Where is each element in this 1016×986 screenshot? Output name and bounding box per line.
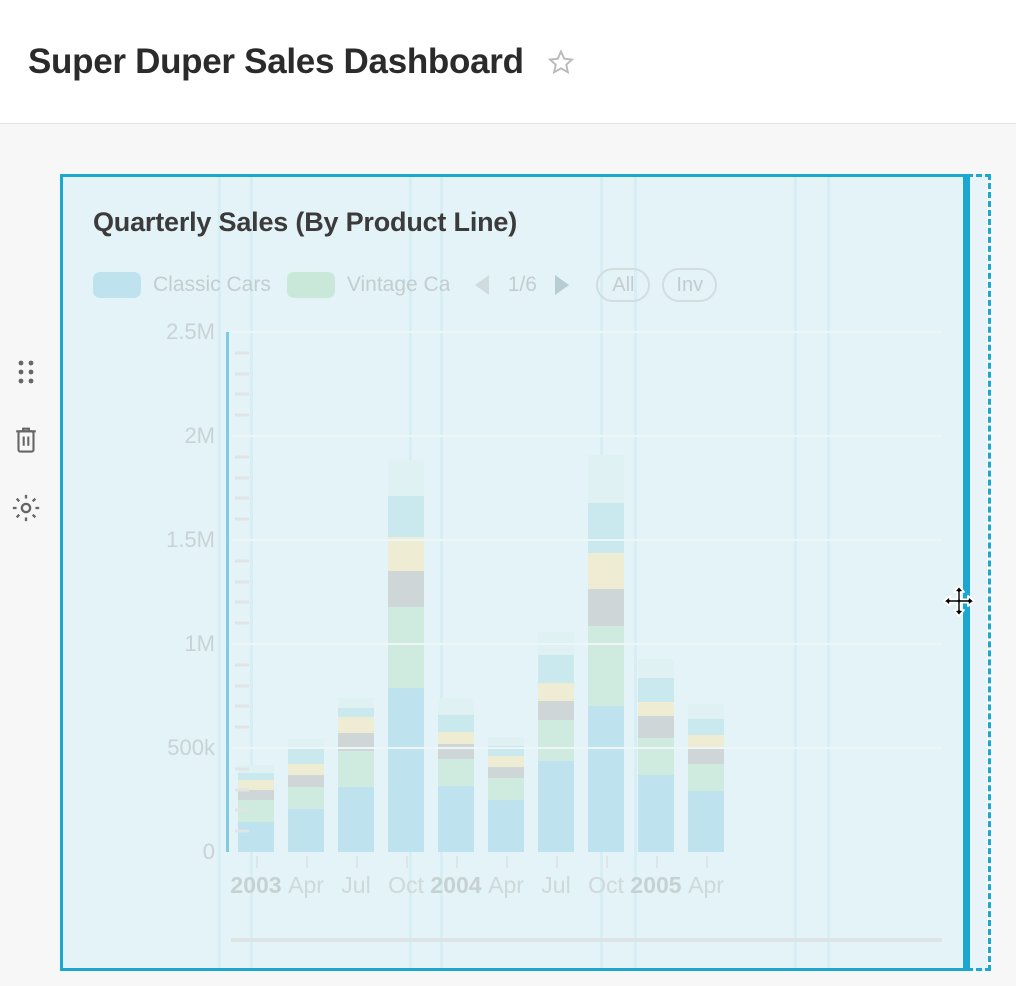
y-axis: 0500k1M1.5M2M2.5M <box>63 332 223 852</box>
gridline <box>231 435 942 437</box>
chart-bar-segment <box>288 787 324 810</box>
x-axis-tick-label: Apr <box>688 872 724 899</box>
drag-handle-icon[interactable] <box>9 355 43 389</box>
x-axis-tick <box>606 856 608 868</box>
x-axis-tick <box>656 856 658 868</box>
legend-item-vintage-cars[interactable]: Vintage Ca <box>287 272 451 298</box>
y-axis-minor-tick <box>235 580 249 583</box>
chart-bar-segment <box>538 720 574 761</box>
chart-bar-segment <box>238 822 274 852</box>
chart-bar-segment <box>588 589 624 626</box>
chart-bar-segment <box>588 706 624 852</box>
y-axis-tick-label: 2.5M <box>166 319 215 345</box>
y-axis-tick-label: 500k <box>167 735 215 761</box>
app-header: Super Duper Sales Dashboard <box>0 0 1016 124</box>
y-axis-minor-tick <box>235 705 249 708</box>
chart-bar-segment <box>488 800 524 852</box>
y-axis-minor-tick <box>235 476 249 479</box>
chart-bar-segment <box>388 571 424 606</box>
chart-bar-segment <box>338 698 374 707</box>
chart-bar-segment <box>638 738 674 775</box>
x-axis-tick-label: Oct <box>388 872 424 899</box>
y-axis-minor-tick <box>235 767 249 770</box>
chart-bar-segment <box>288 739 324 747</box>
chart-bar-segment <box>538 683 574 702</box>
x-axis-tick-label: Apr <box>288 872 324 899</box>
chart-bar[interactable] <box>638 659 674 852</box>
chart-bar-segment <box>438 759 474 786</box>
chart-bar-segment <box>688 791 724 852</box>
gridline <box>231 747 942 749</box>
dashboard-page: Super Duper Sales Dashboard <box>0 0 1016 986</box>
star-outline-icon[interactable] <box>544 45 578 79</box>
x-axis-tick <box>356 856 358 868</box>
chart-bar[interactable] <box>488 737 524 852</box>
y-axis-tick-label: 2M <box>184 423 215 449</box>
chart-bar-segment <box>688 719 724 735</box>
trash-icon[interactable] <box>9 423 43 457</box>
x-axis: 2003AprJulOct2004AprJulOct2005Apr <box>231 856 942 916</box>
legend-invert-button[interactable]: Inv <box>662 268 717 302</box>
chart-bar-segment <box>388 537 424 571</box>
legend-swatch-vintage-cars <box>287 272 335 298</box>
y-axis-minor-tick <box>235 830 249 833</box>
chart-bar-segment <box>338 717 374 734</box>
chart-bar-segment <box>288 764 324 775</box>
chart-bar-segment <box>688 704 724 719</box>
chart-bar-segment <box>688 764 724 791</box>
gridline <box>231 539 942 541</box>
chart-plot-area: 0500k1M1.5M2M2.5M 2003AprJulOct2004AprJu… <box>63 332 942 942</box>
chart-bar-segment <box>688 735 724 747</box>
chart-legend: Classic Cars Vintage Ca 1/6 All <box>93 268 969 302</box>
chart-bar-segment <box>438 732 474 743</box>
y-axis-minor-tick <box>235 414 249 417</box>
chart-bar-segment <box>338 787 374 853</box>
legend-action-buttons: All Inv <box>596 268 717 302</box>
chart-bar[interactable] <box>338 698 374 852</box>
legend-item-label: Vintage Ca <box>347 273 451 297</box>
chart-bar-segment <box>238 773 274 780</box>
chart-bar[interactable] <box>388 460 424 852</box>
x-axis-tick-label: Jul <box>341 872 370 899</box>
triangle-left-icon[interactable] <box>470 271 494 299</box>
gridline <box>231 643 942 645</box>
y-axis-line <box>226 332 229 852</box>
chart-bar-segment <box>338 751 374 786</box>
widget-resize-handle-right[interactable] <box>963 174 970 971</box>
chart-bar-segment <box>588 553 624 589</box>
x-axis-tick <box>706 856 708 868</box>
y-axis-minor-tick <box>235 518 249 521</box>
x-axis-tick <box>506 856 508 868</box>
chart-bar-segment <box>638 678 674 702</box>
x-axis-tick-label: Oct <box>588 872 624 899</box>
x-axis-tick-label: Apr <box>488 872 524 899</box>
x-axis-tick-label: 2005 <box>630 872 681 899</box>
chart-bar-segment <box>388 460 424 496</box>
x-axis-tick <box>256 856 258 868</box>
y-axis-minor-tick <box>235 684 249 687</box>
page-title: Super Duper Sales Dashboard <box>28 42 524 82</box>
y-axis-tick-label: 1M <box>184 631 215 657</box>
chart-bar-segment <box>638 716 674 738</box>
chart-bar-segment <box>588 626 624 706</box>
x-axis-baseline <box>231 938 942 942</box>
legend-swatch-classic-cars <box>93 272 141 298</box>
chart-title: Quarterly Sales (By Product Line) <box>93 207 969 238</box>
chart-bar-segment <box>388 496 424 537</box>
chart-bar-segment <box>438 786 474 852</box>
triangle-right-icon[interactable] <box>550 271 574 299</box>
chart-bar-segment <box>688 747 724 764</box>
chart-bar-segment <box>488 778 524 800</box>
chart-bar-segment <box>638 702 674 716</box>
chart-bar-segment <box>538 655 574 682</box>
y-axis-minor-tick <box>235 809 249 812</box>
chart-bar[interactable] <box>538 632 574 852</box>
chart-bar-segment <box>288 775 324 786</box>
x-axis-tick <box>556 856 558 868</box>
chart-bar-segment <box>388 607 424 688</box>
chart-bar-segment <box>288 747 324 764</box>
y-axis-minor-tick <box>235 497 249 500</box>
x-axis-tick-label: Jul <box>541 872 570 899</box>
y-axis-tick-label: 0 <box>203 839 215 865</box>
gridline <box>231 331 942 333</box>
chart-bar[interactable] <box>288 739 324 852</box>
chart-bar[interactable] <box>588 455 624 852</box>
chart-bar-segment <box>538 701 574 720</box>
chart-bar-segment <box>638 775 674 852</box>
y-axis-minor-tick <box>235 601 249 604</box>
x-axis-tick-label: 2004 <box>430 872 481 899</box>
chart-bar-segment <box>438 715 474 733</box>
y-axis-minor-tick <box>235 663 249 666</box>
y-axis-tick-label: 1.5M <box>166 527 215 553</box>
widget-tool-rail <box>0 355 52 525</box>
chart-bar[interactable] <box>438 677 474 852</box>
chart-bar-segment <box>588 455 624 503</box>
bars-layer <box>231 332 942 852</box>
y-axis-minor-tick <box>235 372 249 375</box>
legend-pager: 1/6 <box>470 271 574 299</box>
y-axis-minor-tick <box>235 788 249 791</box>
chart-bar-segment <box>238 790 274 800</box>
chart-bar-segment <box>638 659 674 679</box>
chart-bar-segment <box>288 809 324 852</box>
chart-bar-segment <box>488 767 524 778</box>
chart-bar-segment <box>388 688 424 852</box>
chart-widget[interactable]: Quarterly Sales (By Product Line) Classi… <box>60 174 969 971</box>
legend-item-label: Classic Cars <box>153 273 271 297</box>
legend-all-button[interactable]: All <box>596 268 650 302</box>
y-axis-minor-tick <box>235 622 249 625</box>
chart-bar-segment <box>438 698 474 715</box>
chart-bar-segment <box>488 756 524 766</box>
y-axis-minor-tick <box>235 393 249 396</box>
chart-bar-segment <box>588 503 624 553</box>
widget-content: Quarterly Sales (By Product Line) Classi… <box>63 177 969 968</box>
y-axis-minor-tick <box>235 351 249 354</box>
x-axis-tick <box>456 856 458 868</box>
x-axis-tick <box>306 856 308 868</box>
y-axis-minor-tick <box>235 455 249 458</box>
y-axis-minor-tick <box>235 559 249 562</box>
gear-icon[interactable] <box>9 491 43 525</box>
chart-bar-segment <box>488 737 524 746</box>
legend-item-classic-cars[interactable]: Classic Cars <box>93 272 271 298</box>
legend-page-count: 1/6 <box>504 273 540 297</box>
x-axis-tick <box>406 856 408 868</box>
chart-bar-segment <box>538 761 574 853</box>
y-axis-minor-tick <box>235 726 249 729</box>
chart-bar[interactable] <box>688 704 724 852</box>
x-axis-tick-label: 2003 <box>230 872 281 899</box>
chart-bar-segment <box>338 708 374 717</box>
